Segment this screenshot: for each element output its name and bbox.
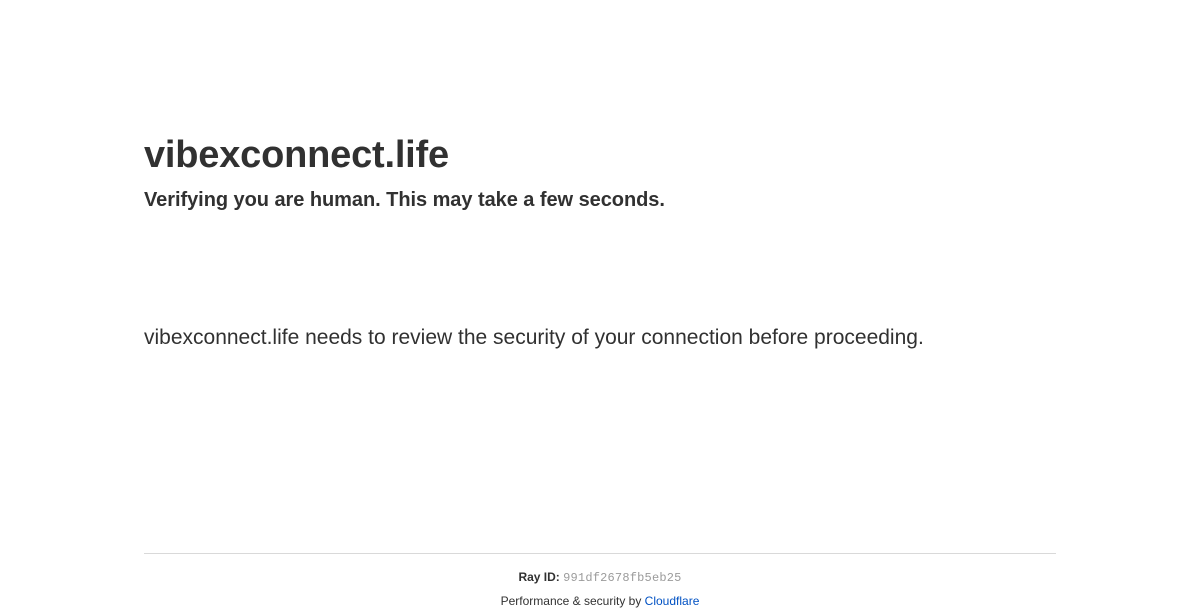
page-title: vibexconnect.life xyxy=(144,0,1056,178)
attribution-prefix: Performance & security by xyxy=(501,594,645,608)
turnstile-widget-slot[interactable] xyxy=(144,224,444,312)
ray-id-label: Ray ID: xyxy=(518,570,559,584)
cloudflare-attribution: Performance & security by Cloudflare xyxy=(144,585,1056,608)
ray-id-line: Ray ID: 991df2678fb5eb25 xyxy=(144,570,1056,585)
challenge-content: vibexconnect.life Verifying you are huma… xyxy=(144,0,1056,356)
challenge-page: vibexconnect.life Verifying you are huma… xyxy=(0,0,1200,600)
ray-id-value: 991df2678fb5eb25 xyxy=(563,571,681,585)
cloudflare-link[interactable]: Cloudflare xyxy=(645,594,700,608)
challenge-description: vibexconnect.life needs to review the se… xyxy=(144,312,944,356)
verification-status-text: Verifying you are human. This may take a… xyxy=(144,178,1056,214)
